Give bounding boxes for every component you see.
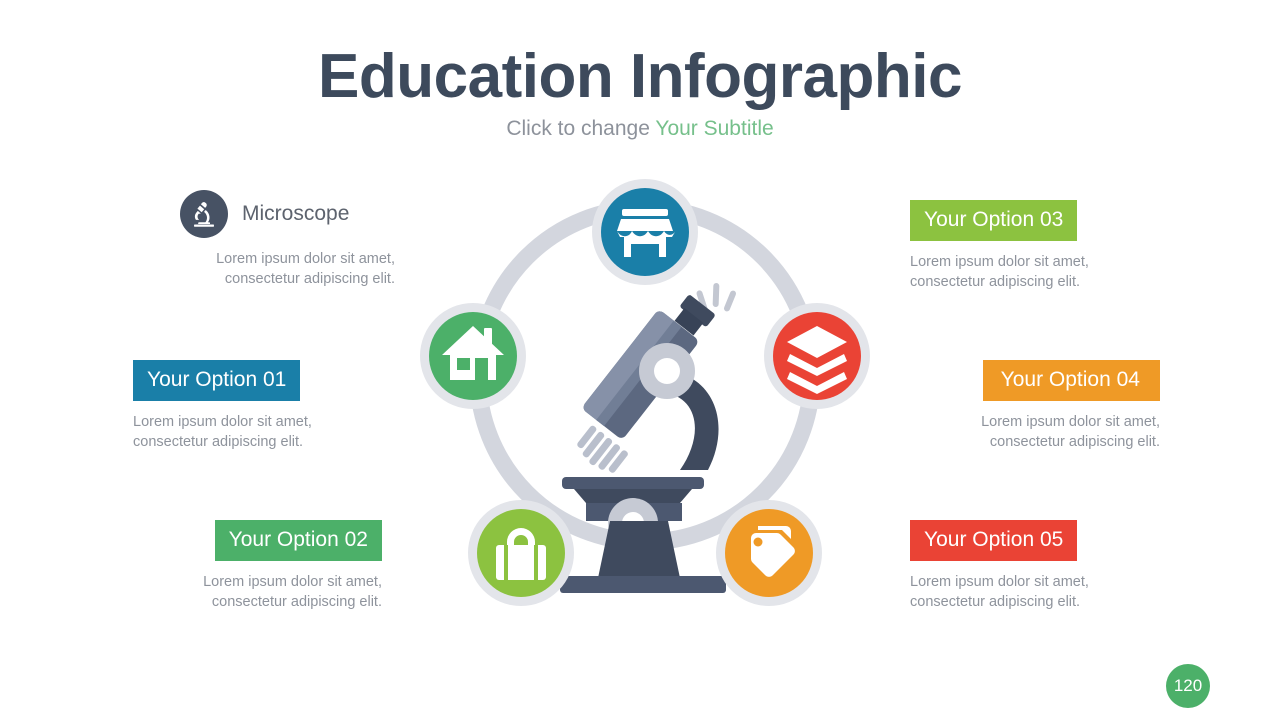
node-store[interactable] [592, 179, 698, 285]
node-briefcase[interactable] [468, 500, 574, 606]
page-title: Education Infographic [0, 44, 1280, 109]
page-number-badge: 120 [1166, 664, 1210, 708]
microscope-icon [180, 190, 228, 238]
page-header: Education Infographic Click to change Yo… [0, 44, 1280, 141]
option-description-05: Lorem ipsum dolor sit amet, consectetur … [910, 573, 1140, 612]
option-block-05: Your Option 05 Lorem ipsum dolor sit ame… [910, 520, 1140, 612]
node-home[interactable] [420, 303, 526, 409]
option-description-01: Lorem ipsum dolor sit amet, consectetur … [133, 413, 363, 452]
microscope-heading-row: Microscope [180, 190, 395, 238]
page-subtitle[interactable]: Click to change Your Subtitle [0, 117, 1280, 141]
option-block-01: Your Option 01 Lorem ipsum dolor sit ame… [133, 360, 363, 452]
microscope-description: Lorem ipsum dolor sit amet, consectetur … [180, 250, 395, 289]
microscope-info-block: Microscope Lorem ipsum dolor sit amet, c… [180, 190, 395, 289]
option-description-04: Lorem ipsum dolor sit amet, consectetur … [930, 413, 1160, 452]
option-label-03[interactable]: Your Option 03 [910, 200, 1077, 241]
circular-diagram [418, 178, 880, 620]
option-label-01[interactable]: Your Option 01 [133, 360, 300, 401]
subtitle-prefix: Click to change [506, 117, 655, 140]
node-tag[interactable] [716, 500, 822, 606]
option-block-03: Your Option 03 Lorem ipsum dolor sit ame… [910, 200, 1140, 292]
option-block-02: Your Option 02 Lorem ipsum dolor sit ame… [180, 520, 382, 612]
microscope-illustration [560, 283, 737, 593]
option-label-02[interactable]: Your Option 02 [215, 520, 382, 561]
option-label-04[interactable]: Your Option 04 [983, 360, 1160, 401]
node-layers[interactable] [764, 303, 870, 409]
option-description-02: Lorem ipsum dolor sit amet, consectetur … [180, 573, 382, 612]
option-label-05[interactable]: Your Option 05 [910, 520, 1077, 561]
option-description-03: Lorem ipsum dolor sit amet, consectetur … [910, 253, 1140, 292]
option-block-04: Your Option 04 Lorem ipsum dolor sit ame… [930, 360, 1160, 452]
microscope-title: Microscope [242, 202, 349, 226]
subtitle-accent: Your Subtitle [655, 117, 773, 140]
